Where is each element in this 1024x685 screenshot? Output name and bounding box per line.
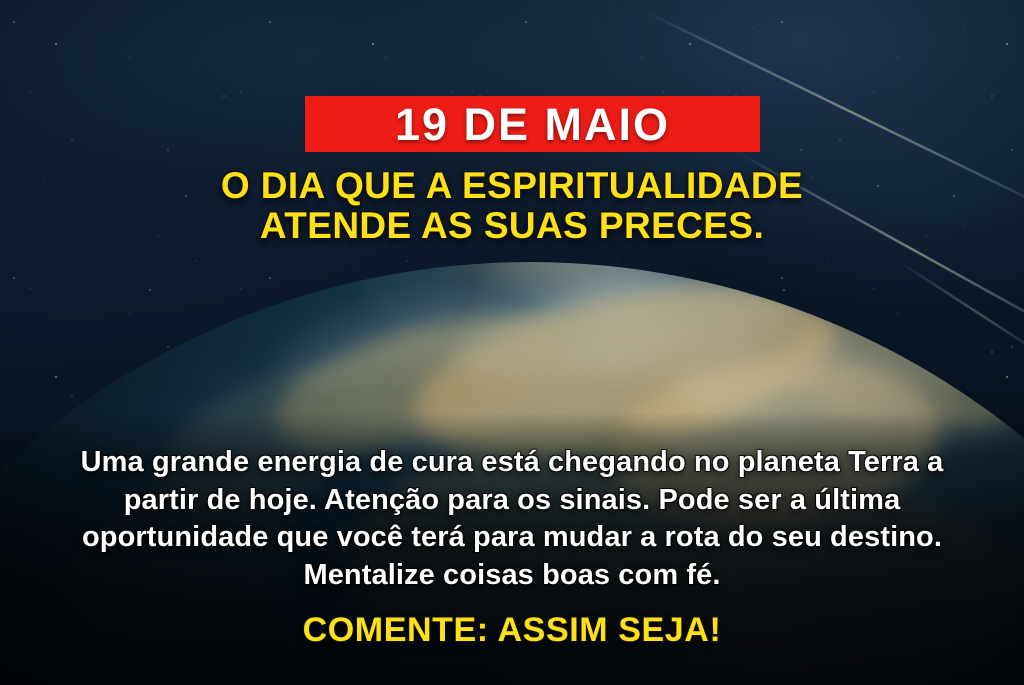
poster-content: 19 DE MAIO O DIA QUE A ESPIRITUALIDADE A… [0,0,1024,685]
call-to-action-label: COMENTE: ASSIM SEJA! [0,613,1024,647]
date-banner: 19 DE MAIO [305,96,760,152]
headline-line-2: ATENDE AS SUAS PRECES. [0,206,1024,246]
headline-line-1: O DIA QUE A ESPIRITUALIDADE [0,166,1024,206]
date-banner-label: 19 DE MAIO [395,102,670,147]
body-copy: Uma grande energia de cura está chegando… [52,444,972,594]
headline: O DIA QUE A ESPIRITUALIDADE ATENDE AS SU… [0,166,1024,246]
poster-canvas: 19 DE MAIO O DIA QUE A ESPIRITUALIDADE A… [0,0,1024,685]
